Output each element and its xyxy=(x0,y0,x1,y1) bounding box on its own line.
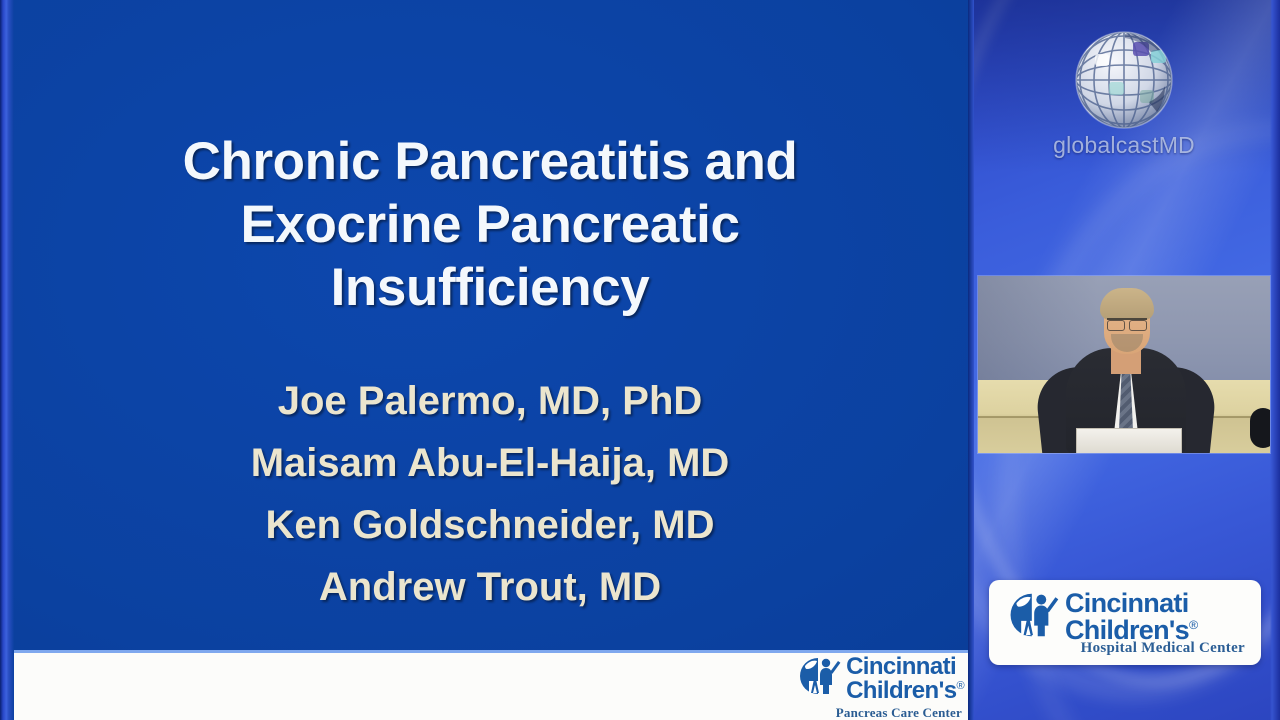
globalcastmd-wordmark: globalcastMD xyxy=(968,132,1280,159)
globalcastmd-logo: globalcastMD xyxy=(968,24,1280,159)
cincinnati-childrens-logo: Cincinnati Children's® xyxy=(797,655,964,703)
cincinnati-childrens-wordmark: Cincinnati Children's® xyxy=(846,655,964,703)
speaker-glasses xyxy=(1107,318,1147,329)
slide-title-line-3: Insufficiency xyxy=(60,256,920,319)
author-name: Maisam Abu-El-Haija, MD xyxy=(60,432,920,494)
slide-title-line-1: Chronic Pancreatitis and xyxy=(60,130,920,193)
globe-mosaic-icon xyxy=(1065,24,1183,136)
slide-footer-bar: Cincinnati Children's® Pancreas Care Cen… xyxy=(14,653,968,720)
slide-author-list: Joe Palermo, MD, PhD Maisam Abu-El-Haija… xyxy=(60,370,920,618)
cincinnati-childrens-logo-icon xyxy=(797,655,841,697)
author-name: Ken Goldschneider, MD xyxy=(60,494,920,556)
slide-left-edge-gradient xyxy=(0,0,14,720)
video-player-stage: Chronic Pancreatitis and Exocrine Pancre… xyxy=(0,0,1280,720)
cincinnati-childrens-wordmark: Cincinnati Children's® xyxy=(1065,590,1197,644)
presentation-slide: Chronic Pancreatitis and Exocrine Pancre… xyxy=(0,0,968,720)
cincinnati-childrens-card: Cincinnati Children's® Hospital Medical … xyxy=(989,580,1261,665)
slide-title-line-2: Exocrine Pancreatic xyxy=(60,193,920,256)
hospital-medical-center-label: Hospital Medical Center xyxy=(1081,640,1245,657)
speaker-video-thumbnail[interactable] xyxy=(978,276,1270,453)
speaker-laptop xyxy=(1076,428,1182,453)
speaker-hair xyxy=(1100,288,1154,320)
video-foreground-object xyxy=(1250,408,1270,448)
author-name: Andrew Trout, MD xyxy=(60,556,920,618)
author-name: Joe Palermo, MD, PhD xyxy=(60,370,920,432)
logo-line-2: Children's® xyxy=(846,679,964,703)
pancreas-care-center-label: Pancreas Care Center xyxy=(836,705,962,720)
registered-mark-icon: ® xyxy=(956,680,964,692)
cincinnati-childrens-logo: Cincinnati Children's® xyxy=(1007,590,1197,644)
logo-line-1: Cincinnati xyxy=(1065,588,1189,618)
branding-side-panel: globalcastMD xyxy=(968,0,1280,720)
cincinnati-childrens-logo-icon xyxy=(1007,590,1059,640)
logo-line-1: Cincinnati xyxy=(846,653,956,680)
slide-title: Chronic Pancreatitis and Exocrine Pancre… xyxy=(60,130,920,319)
registered-mark-icon: ® xyxy=(1189,618,1197,632)
